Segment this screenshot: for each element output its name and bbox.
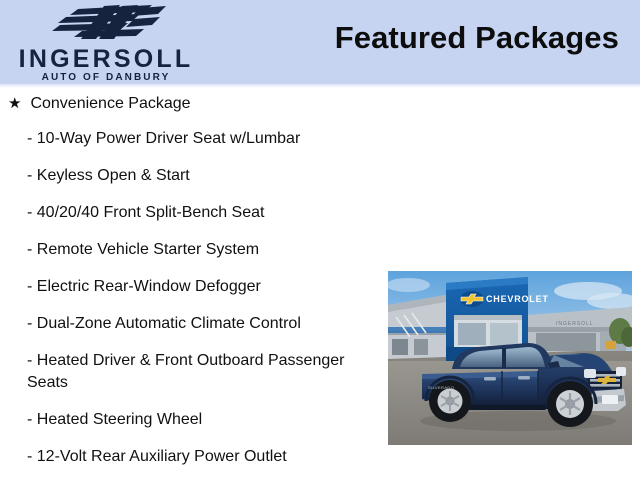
list-item: - Electric Rear-Window Defogger <box>27 276 387 298</box>
list-item: - Keyless Open & Start <box>27 165 387 187</box>
list-item: - 40/20/40 Front Split-Bench Seat <box>27 202 387 224</box>
list-item: - Heated Driver & Front Outboard Passeng… <box>27 350 387 394</box>
list-item: - Dual-Zone Automatic Climate Control <box>27 313 387 335</box>
logo-tagline: AUTO OF DANBURY <box>6 72 206 83</box>
dealer-sign-text: CHEVROLET <box>486 294 549 304</box>
list-item: - 10-Way Power Driver Seat w/Lumbar <box>27 128 387 150</box>
list-item: - Heated Steering Wheel <box>27 409 387 431</box>
features-content: ★ Convenience Package - 10-Way Power Dri… <box>0 86 640 480</box>
header-band: INGERSOLL AUTO OF DANBURY Featured Packa… <box>0 0 640 86</box>
page-title: Featured Packages <box>335 20 619 56</box>
logo-wordmark: INGERSOLL <box>6 46 206 72</box>
vehicle-photo: CHEVROLET INGERSOLL <box>388 271 632 445</box>
list-item: - Remote Vehicle Starter System <box>27 239 387 261</box>
feature-list: - 10-Way Power Driver Seat w/Lumbar - Ke… <box>27 128 387 483</box>
svg-text:SILVERADO: SILVERADO <box>428 385 454 390</box>
ingersoll-wing-emblem-icon <box>48 4 172 42</box>
package-name: Convenience Package <box>30 92 190 115</box>
dealer-logo: INGERSOLL AUTO OF DANBURY <box>6 2 206 84</box>
list-item: - 12-Volt Rear Auxiliary Power Outlet <box>27 446 387 468</box>
package-heading: ★ Convenience Package <box>8 92 191 115</box>
svg-text:INGERSOLL: INGERSOLL <box>556 321 594 327</box>
star-icon: ★ <box>8 92 21 115</box>
